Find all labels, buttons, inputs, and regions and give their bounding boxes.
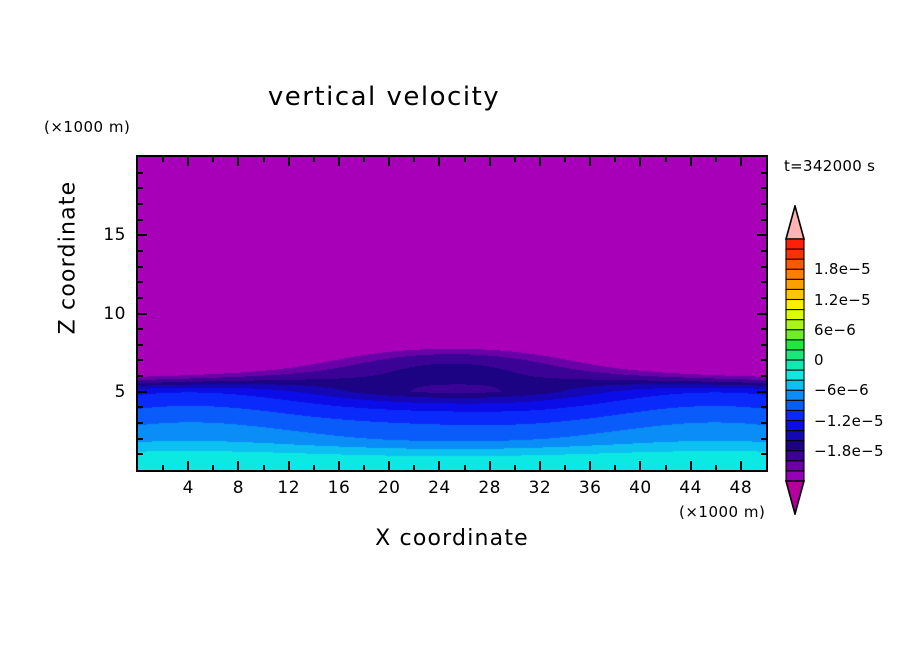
figure-canvas: vertical velocity (×1000 m) (×1000 m) X … <box>0 0 904 654</box>
colorbar-tick-label: 6e−6 <box>814 321 856 339</box>
colorbar-band <box>786 421 804 432</box>
y-tick-left <box>138 344 143 346</box>
x-tick-top <box>489 157 491 166</box>
x-tick-top <box>690 157 692 166</box>
y-tick-right <box>761 219 766 221</box>
x-tick-bottom <box>162 465 164 470</box>
colorbar-band <box>786 390 804 401</box>
y-tick-right <box>761 375 766 377</box>
x-tick-label: 20 <box>367 478 411 498</box>
colorbar-band <box>786 461 804 472</box>
x-tick-bottom <box>489 461 491 470</box>
x-tick-top <box>413 157 415 162</box>
y-tick-right <box>757 313 766 315</box>
x-tick-top <box>740 157 742 166</box>
x-tick-top <box>464 157 466 162</box>
y-tick-right <box>761 438 766 440</box>
colorbar <box>782 205 808 515</box>
y-tick-left <box>138 375 143 377</box>
x-tick-top <box>212 157 214 162</box>
x-tick-label: 12 <box>267 478 311 498</box>
time-annotation: t=342000 s <box>784 157 875 175</box>
x-tick-bottom <box>413 465 415 470</box>
x-tick-top <box>665 157 667 162</box>
colorbar-band <box>786 239 804 250</box>
y-tick-left <box>138 203 143 205</box>
y-tick-left <box>138 406 143 408</box>
y-tick-right <box>761 203 766 205</box>
colorbar-tick-label: 0 <box>814 351 824 369</box>
y-tick-right <box>757 391 766 393</box>
colorbar-tick-label: 1.2e−5 <box>814 291 871 309</box>
x-tick-label: 28 <box>468 478 512 498</box>
y-tick-right <box>761 328 766 330</box>
x-axis-unit-label: (×1000 m) <box>679 503 765 521</box>
x-tick-top <box>338 157 340 166</box>
colorbar-tick-label: −1.2e−5 <box>814 412 884 430</box>
y-tick-right <box>761 281 766 283</box>
x-tick-label: 40 <box>618 478 662 498</box>
x-tick-label: 4 <box>166 478 210 498</box>
x-tick-label: 24 <box>417 478 461 498</box>
y-tick-left <box>138 313 147 315</box>
x-tick-top <box>639 157 641 166</box>
x-tick-bottom <box>614 465 616 470</box>
x-tick-label: 16 <box>317 478 361 498</box>
colorbar-band <box>786 451 804 462</box>
colorbar-band <box>786 370 804 381</box>
y-tick-left <box>138 281 143 283</box>
x-tick-bottom <box>313 465 315 470</box>
y-tick-left <box>138 297 143 299</box>
colorbar-band <box>786 350 804 361</box>
colorbar-swatches <box>782 205 808 515</box>
x-tick-bottom <box>589 461 591 470</box>
x-tick-bottom <box>212 465 214 470</box>
colorbar-band <box>786 441 804 452</box>
colorbar-tick-label: −6e−6 <box>814 381 869 399</box>
colorbar-band <box>786 269 804 280</box>
y-tick-left <box>138 234 147 236</box>
y-tick-right <box>761 266 766 268</box>
y-tick-right <box>761 422 766 424</box>
x-tick-bottom <box>564 465 566 470</box>
x-tick-bottom <box>665 465 667 470</box>
y-tick-right <box>761 187 766 189</box>
x-tick-bottom <box>438 461 440 470</box>
colorbar-band <box>786 259 804 270</box>
x-tick-label: 48 <box>719 478 763 498</box>
y-tick-right <box>761 172 766 174</box>
y-tick-left <box>138 172 143 174</box>
x-tick-bottom <box>187 461 189 470</box>
colorbar-band <box>786 279 804 290</box>
x-tick-bottom <box>690 461 692 470</box>
x-tick-bottom <box>715 465 717 470</box>
x-tick-label: 32 <box>518 478 562 498</box>
colorbar-band <box>786 310 804 321</box>
y-tick-label: 5 <box>86 382 126 402</box>
y-tick-left <box>138 187 143 189</box>
x-tick-top <box>564 157 566 162</box>
y-tick-left <box>138 266 143 268</box>
x-axis-title: X coordinate <box>136 526 768 551</box>
y-tick-left <box>138 250 143 252</box>
page-title: vertical velocity <box>0 82 768 112</box>
contour-plot-area <box>136 155 768 472</box>
y-tick-left <box>138 391 147 393</box>
y-tick-left <box>138 422 143 424</box>
y-tick-left <box>138 219 143 221</box>
x-tick-bottom <box>338 461 340 470</box>
x-tick-bottom <box>740 461 742 470</box>
y-tick-right <box>761 250 766 252</box>
colorbar-band <box>786 410 804 421</box>
colorbar-over-arrow <box>786 206 804 239</box>
x-tick-bottom <box>288 461 290 470</box>
y-tick-right <box>761 344 766 346</box>
x-tick-label: 44 <box>669 478 713 498</box>
x-tick-top <box>438 157 440 166</box>
colorbar-band <box>786 340 804 351</box>
colorbar-tick-label: 1.8e−5 <box>814 260 871 278</box>
x-tick-top <box>263 157 265 162</box>
x-tick-bottom <box>464 465 466 470</box>
y-tick-right <box>761 359 766 361</box>
colorbar-tick-label: −1.8e−5 <box>814 442 884 460</box>
x-tick-top <box>363 157 365 162</box>
x-tick-label: 8 <box>216 478 260 498</box>
y-axis-unit-label: (×1000 m) <box>44 118 130 136</box>
x-tick-top <box>313 157 315 162</box>
colorbar-band <box>786 431 804 442</box>
x-tick-top <box>715 157 717 162</box>
x-tick-bottom <box>388 461 390 470</box>
x-tick-top <box>162 157 164 162</box>
colorbar-band <box>786 380 804 391</box>
colorbar-under-arrow <box>786 481 804 514</box>
colorbar-band <box>786 471 804 482</box>
y-tick-right <box>761 406 766 408</box>
x-tick-bottom <box>514 465 516 470</box>
y-tick-label: 10 <box>86 304 126 324</box>
colorbar-band <box>786 289 804 300</box>
y-tick-left <box>138 359 143 361</box>
x-tick-top <box>614 157 616 162</box>
colorbar-band <box>786 400 804 411</box>
y-tick-left <box>138 438 143 440</box>
x-tick-top <box>237 157 239 166</box>
x-tick-top <box>187 157 189 166</box>
y-axis-title: Z coordinate <box>56 168 81 348</box>
x-tick-top <box>288 157 290 166</box>
x-tick-bottom <box>263 465 265 470</box>
y-tick-label: 15 <box>86 225 126 245</box>
y-tick-right <box>761 297 766 299</box>
colorbar-band <box>786 249 804 260</box>
x-tick-bottom <box>539 461 541 470</box>
x-tick-bottom <box>363 465 365 470</box>
y-tick-right <box>757 234 766 236</box>
x-tick-top <box>514 157 516 162</box>
contour-field <box>138 157 766 470</box>
y-tick-left <box>138 453 143 455</box>
y-tick-right <box>761 453 766 455</box>
x-tick-bottom <box>639 461 641 470</box>
x-tick-top <box>388 157 390 166</box>
colorbar-band <box>786 360 804 371</box>
colorbar-band <box>786 300 804 311</box>
y-tick-left <box>138 328 143 330</box>
x-tick-bottom <box>237 461 239 470</box>
x-tick-top <box>589 157 591 166</box>
colorbar-band <box>786 320 804 331</box>
x-tick-label: 36 <box>568 478 612 498</box>
colorbar-band <box>786 330 804 341</box>
x-tick-top <box>539 157 541 166</box>
